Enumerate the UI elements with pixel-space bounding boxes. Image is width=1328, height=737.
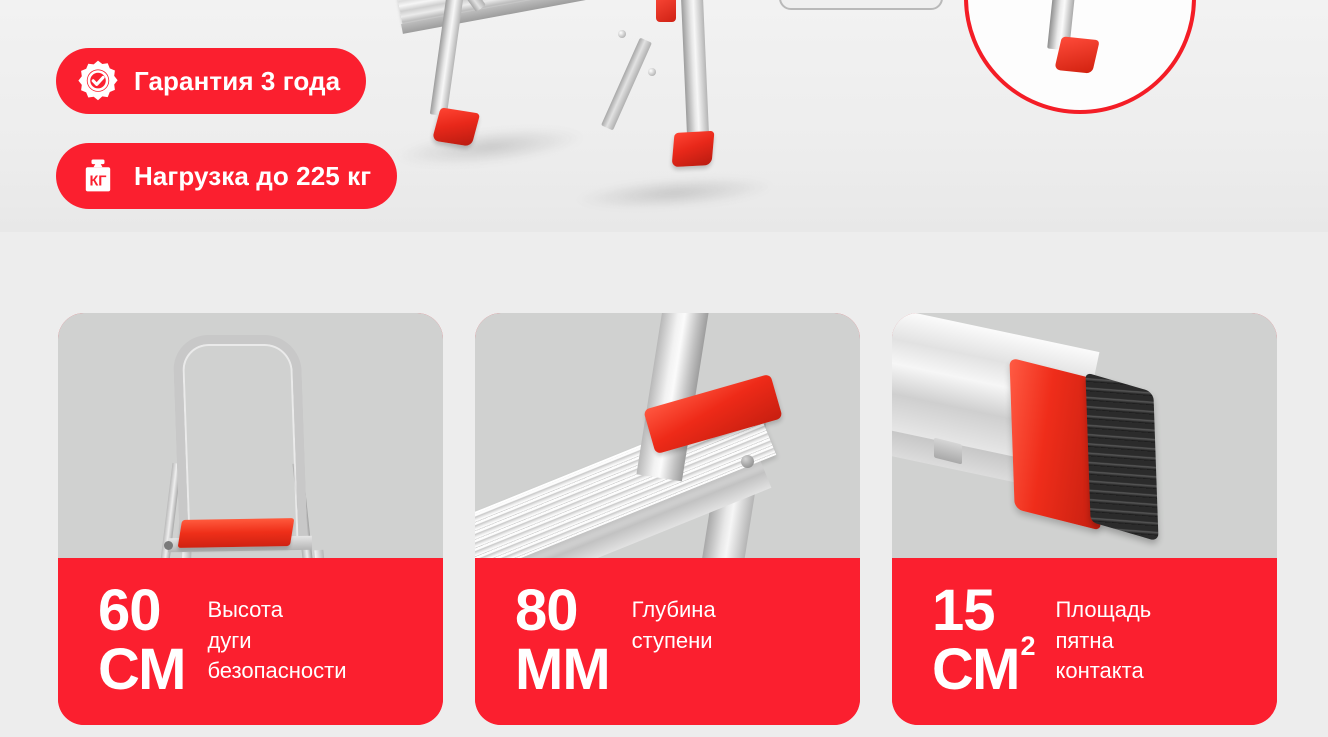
card-unit-superscript: 2 [1020,631,1034,661]
feature-cards: 60 СМ Высота дуги безопасности 80 ММ [58,313,1278,725]
ladder-foot-right [672,131,715,167]
contact-foot-photo [892,313,1277,558]
card-unit-text: СМ [932,637,1019,702]
desc-line: Площадь [1055,595,1151,626]
ladder-foot-left [432,107,480,146]
card-unit: ММ [515,643,610,696]
card-body-arch-height: 60 СМ Высота дуги безопасности [58,558,443,725]
foot-rubber-tread [1085,372,1158,541]
safety-arch-photo [58,313,443,558]
card-value-step-depth: 80 ММ [515,584,610,697]
ladder-rail-right [677,0,709,140]
desc-line: Высота [207,595,346,626]
ladder-clip-1 [656,0,676,22]
safety-arch [172,335,307,543]
ladder-brace-right [601,38,652,131]
ladder-screw-4 [648,68,656,76]
arch-red-step [178,518,295,548]
callout-foot [1054,36,1099,73]
badge-load-capacity[interactable]: КГ Нагрузка до 225 кг [56,143,397,209]
card-value-arch-height: 60 СМ [98,584,185,697]
badge-guarantee[interactable]: Гарантия 3 года [56,48,366,114]
weight-kg-icon: КГ [76,154,120,198]
feature-card-step-depth[interactable]: 80 ММ Глубина ступени [475,313,860,725]
feature-badges: Гарантия 3 года КГ Нагрузка до 225 кг [56,48,397,209]
ladder-product-photo [380,0,740,200]
hero-section: Гарантия 3 года КГ Нагрузка до 225 кг До… [0,0,1328,232]
ladder-screw-3 [618,30,626,38]
red-circle-highlight [964,0,1196,114]
desc-line: дуги [207,626,346,657]
extra-step-callout: Дополнительная ступень [880,0,1280,232]
card-number: 60 [98,578,161,643]
desc-line: пятна [1055,626,1151,657]
arch-knob [164,541,173,550]
desc-line: ступени [632,626,716,657]
badge-load-capacity-label: Нагрузка до 225 кг [134,161,371,192]
feature-card-arch-height[interactable]: 60 СМ Высота дуги безопасности [58,313,443,725]
feature-card-contact-area[interactable]: 15 СМ2 Площадь пятна контакта [892,313,1277,725]
desc-line: безопасности [207,656,346,687]
card-body-contact-area: 15 СМ2 Площадь пятна контакта [892,558,1277,725]
card-unit: СМ2 [932,643,1033,696]
card-description-step-depth: Глубина ступени [632,584,716,656]
card-value-contact-area: 15 СМ2 [932,584,1033,697]
svg-text:КГ: КГ [89,173,106,189]
card-description-arch-height: Высота дуги безопасности [207,584,346,687]
desc-line: контакта [1055,656,1151,687]
badge-guarantee-label: Гарантия 3 года [134,66,340,97]
card-number: 15 [932,578,995,643]
step-rivet-hole [741,455,754,468]
guarantee-seal-icon [76,59,120,103]
card-number: 80 [515,578,578,643]
desc-line: Глубина [632,595,716,626]
card-description-contact-area: Площадь пятна контакта [1055,584,1151,687]
card-body-step-depth: 80 ММ Глубина ступени [475,558,860,725]
step-depth-photo [475,313,860,558]
card-unit: СМ [98,643,185,696]
